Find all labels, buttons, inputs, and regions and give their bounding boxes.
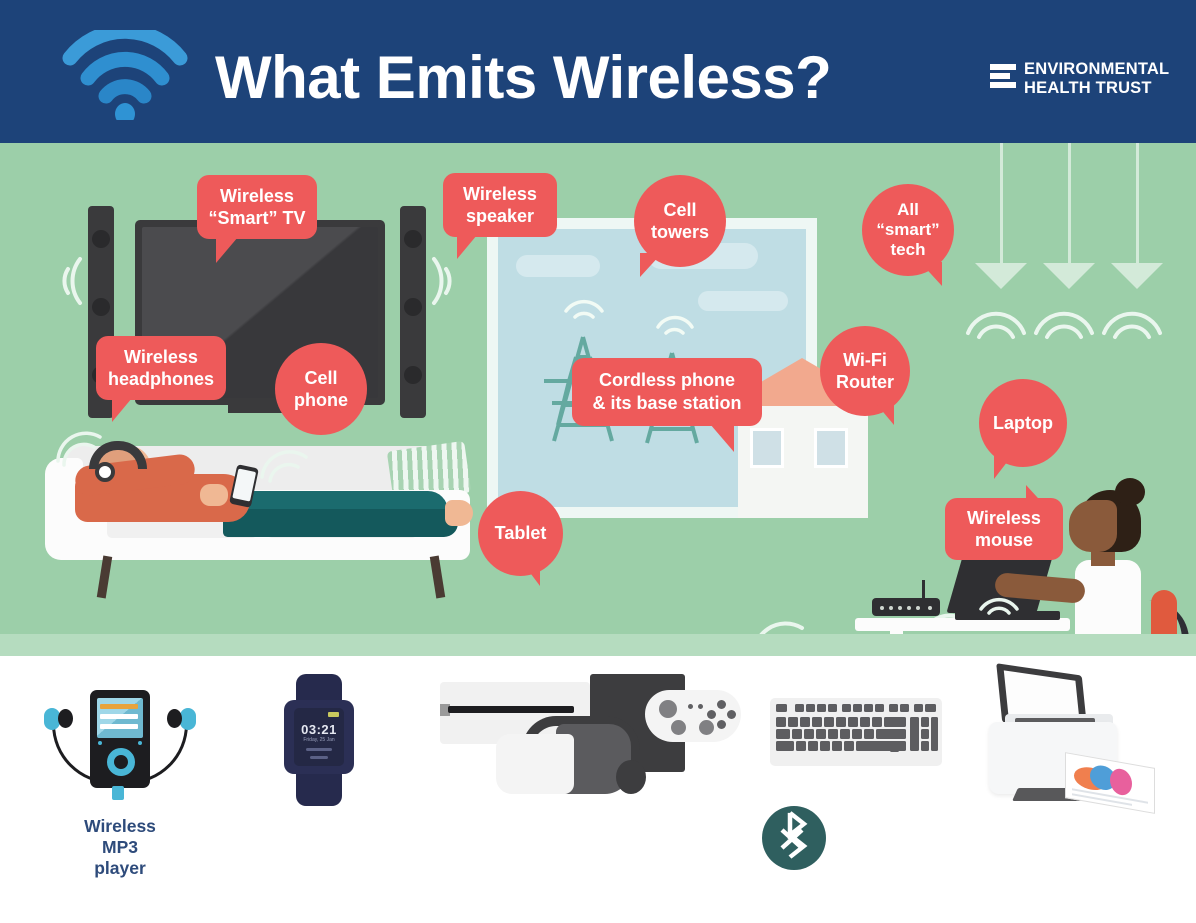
bubble-tail: [216, 237, 238, 263]
smartwatch-icon[interactable]: 03:21 Friday, 25 Jan: [278, 672, 360, 812]
bubble-wireless-speaker[interactable]: Wireless speaker: [443, 173, 557, 237]
game-controller: [645, 690, 741, 752]
vr-headset-console-icon[interactable]: [440, 674, 750, 804]
header-banner: What Emits Wireless? ENVIRONMENTAL HEALT…: [0, 0, 1196, 143]
infographic-page: What Emits Wireless? ENVIRONMENTAL HEALT…: [0, 0, 1196, 923]
printer-icon[interactable]: [975, 674, 1175, 824]
label-line: player: [42, 858, 198, 879]
bubble-tablet[interactable]: Tablet: [478, 491, 563, 576]
watch-date-display: Friday, 25 Jan: [294, 737, 344, 743]
person-at-desk: [1055, 478, 1196, 656]
right-speaker: [400, 206, 426, 418]
bubble-tail: [920, 262, 942, 286]
bubble-label-line: phone: [294, 389, 348, 411]
bubble-label-line: & its base station: [592, 392, 741, 415]
organization-logo: ENVIRONMENTAL HEALTH TRUST: [990, 60, 1170, 106]
bubble-tail: [710, 424, 734, 452]
organization-name: ENVIRONMENTAL HEALTH TRUST: [1024, 60, 1169, 98]
pendant-lamp: [1043, 263, 1095, 289]
bubble-label-line: Wireless: [967, 507, 1041, 529]
keyboard-icon[interactable]: [770, 698, 942, 768]
bubble-tail: [457, 235, 477, 259]
headphone-waves: [52, 425, 106, 467]
bubble-label-line: Wireless: [208, 185, 305, 207]
bubble-wifi-router[interactable]: Wi-Fi Router: [820, 326, 910, 416]
bubble-tail: [112, 398, 132, 422]
cloud: [516, 255, 600, 277]
bubble-tail: [640, 253, 662, 277]
bubble-tail: [1026, 485, 1048, 509]
bubble-label-line: towers: [651, 221, 709, 243]
bubble-tail: [522, 562, 540, 586]
pendant-lamp: [1111, 263, 1163, 289]
lamp-signal-waves: [1028, 295, 1100, 341]
bubble-label-line: headphones: [108, 368, 214, 390]
bubble-label-line: Cell: [294, 367, 348, 389]
tower-signal-waves: [556, 281, 612, 321]
bubble-label-line: Wi-Fi: [836, 349, 894, 371]
bubble-label-line: Cordless phone: [592, 369, 741, 392]
bubble-label-line: “smart”: [876, 220, 939, 240]
cloud: [698, 291, 788, 311]
tower-signal-waves: [650, 301, 700, 337]
eht-logo-mark: [990, 64, 1016, 94]
label-line: MP3: [42, 837, 198, 858]
bubble-wireless-headphones[interactable]: Wireless headphones: [96, 336, 226, 400]
house-window: [750, 428, 784, 468]
bubble-label-line: Laptop: [993, 413, 1053, 434]
label-line: Wireless: [42, 816, 198, 837]
speaker-waves-left: [40, 251, 84, 311]
living-room-illustration: Wireless “Smart” TV Wireless headphones …: [0, 143, 1196, 656]
device-legend-strip: Wireless MP3 player 03:21 Friday, 25 Jan…: [0, 656, 1196, 923]
lamp-cord: [1000, 143, 1003, 268]
bubble-label-line: mouse: [967, 529, 1041, 551]
logo-line-2: HEALTH TRUST: [1024, 79, 1169, 98]
pendant-lamp: [975, 263, 1027, 289]
lamp-signal-waves: [960, 295, 1032, 341]
bubble-label-line: Router: [836, 371, 894, 393]
bubble-wireless-smart-tv[interactable]: Wireless “Smart” TV: [197, 175, 317, 239]
bubble-laptop[interactable]: Laptop: [979, 379, 1067, 467]
watch-time-display: 03:21: [294, 722, 344, 737]
bubble-label-line: “Smart” TV: [208, 207, 305, 229]
bubble-label-line: Tablet: [495, 523, 547, 544]
cellphone-waves: [258, 443, 312, 483]
wifi-icon: [60, 30, 190, 120]
bubble-label-line: speaker: [463, 205, 537, 227]
bubble-tail: [874, 401, 894, 425]
house-window: [814, 428, 848, 468]
label-wireless-mp3-player: Wireless MP3 player: [42, 816, 198, 879]
logo-line-1: ENVIRONMENTAL: [1024, 60, 1169, 79]
bluetooth-glyph: [762, 806, 826, 870]
lamp-cord: [1068, 143, 1071, 268]
vr-headset: [496, 724, 646, 796]
bubble-cell-phone[interactable]: Cell phone: [275, 343, 367, 435]
lamp-cord: [1136, 143, 1139, 268]
bubble-tail: [994, 453, 1014, 479]
bubble-label-line: Cell: [651, 199, 709, 221]
bubble-label-line: Wireless: [108, 346, 214, 368]
page-title: What Emits Wireless?: [215, 40, 975, 116]
bubble-label-line: tech: [876, 240, 939, 260]
bubble-label-line: Wireless: [463, 183, 537, 205]
printed-page: [1065, 752, 1155, 814]
bubble-label-line: All: [876, 200, 939, 220]
bubble-cordless-phone[interactable]: Cordless phone & its base station: [572, 358, 762, 426]
bluetooth-icon[interactable]: [762, 806, 826, 870]
mp3-player-icon[interactable]: [42, 672, 198, 812]
lamp-signal-waves: [1096, 295, 1168, 341]
speaker-waves-right: [430, 251, 474, 311]
